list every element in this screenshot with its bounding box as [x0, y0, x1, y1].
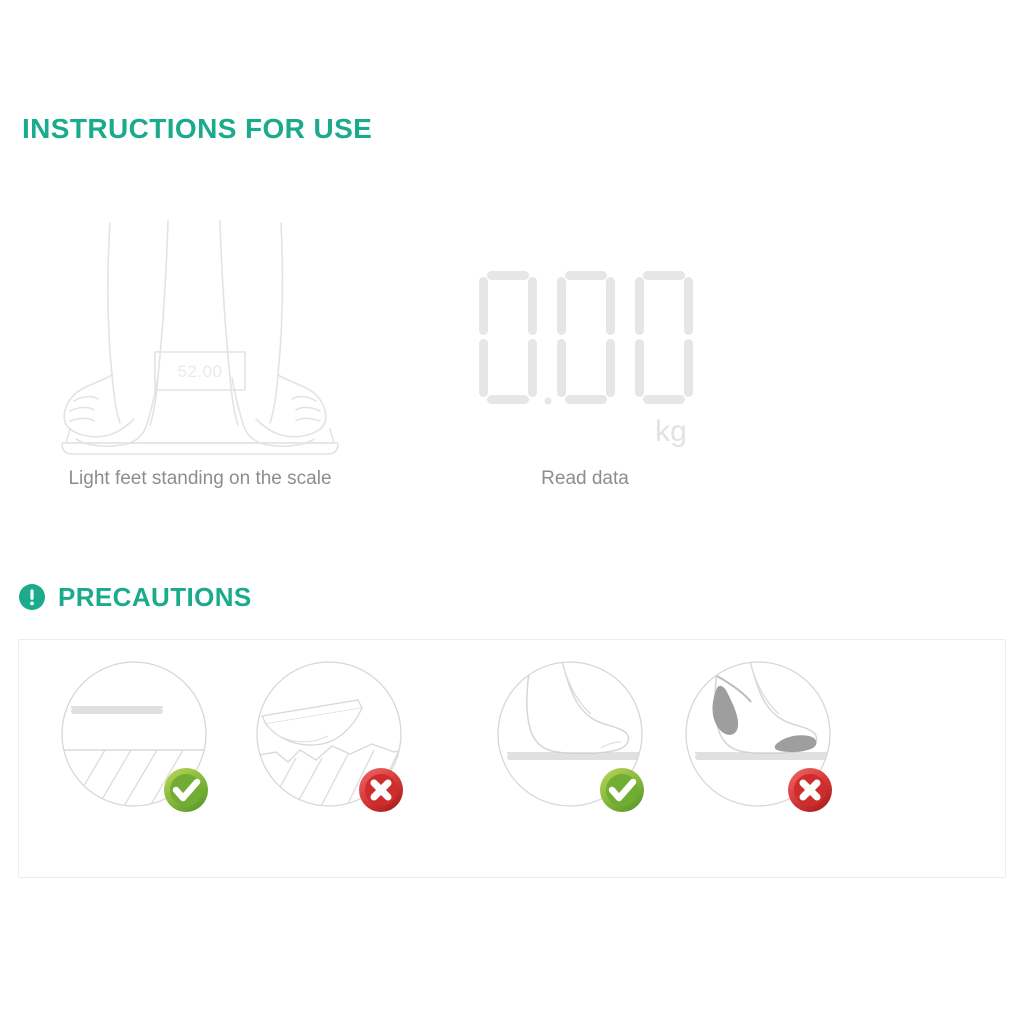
- instruction-step-light-feet: 52.00 Light feet standing on the scale: [40, 215, 360, 490]
- scale-on-hard-floor-illustration: [59, 658, 224, 828]
- lcd-unit-label: kg: [655, 415, 687, 448]
- precautions-title: PRECAUTIONS: [58, 583, 252, 611]
- precaution-item-bare-foot: [495, 658, 660, 828]
- page-title: INSTRUCTIONS FOR USE: [22, 113, 372, 145]
- bare-foot-on-scale-illustration: [495, 658, 660, 828]
- check-badge-icon: [164, 768, 208, 812]
- precaution-item-hard-flat-surface: [59, 658, 224, 828]
- precautions-panel: [18, 639, 1006, 878]
- precautions-items-row: [19, 658, 1007, 828]
- sock-foot-on-scale-illustration: [683, 658, 848, 828]
- exclamation-circle-icon: [18, 583, 46, 611]
- instruction-step-read-data: kg Read data: [440, 215, 730, 490]
- check-badge-icon: [600, 768, 644, 812]
- scale-display-value: 52.00: [177, 362, 222, 381]
- lcd-display-illustration: kg: [440, 215, 730, 460]
- precaution-item-sock-foot: [683, 658, 848, 828]
- cross-badge-icon: [359, 768, 403, 812]
- instruction-step-caption: Read data: [440, 468, 730, 490]
- feet-on-scale-illustration: 52.00: [40, 215, 360, 460]
- instruction-step-caption: Light feet standing on the scale: [40, 468, 360, 490]
- instructions-steps-row: 52.00 Light feet standing on the scale: [0, 215, 1024, 505]
- precaution-item-soft-uneven-surface: [254, 658, 419, 828]
- scale-on-carpet-illustration: [254, 658, 419, 828]
- cross-badge-icon: [788, 768, 832, 812]
- precautions-header: PRECAUTIONS: [18, 583, 252, 611]
